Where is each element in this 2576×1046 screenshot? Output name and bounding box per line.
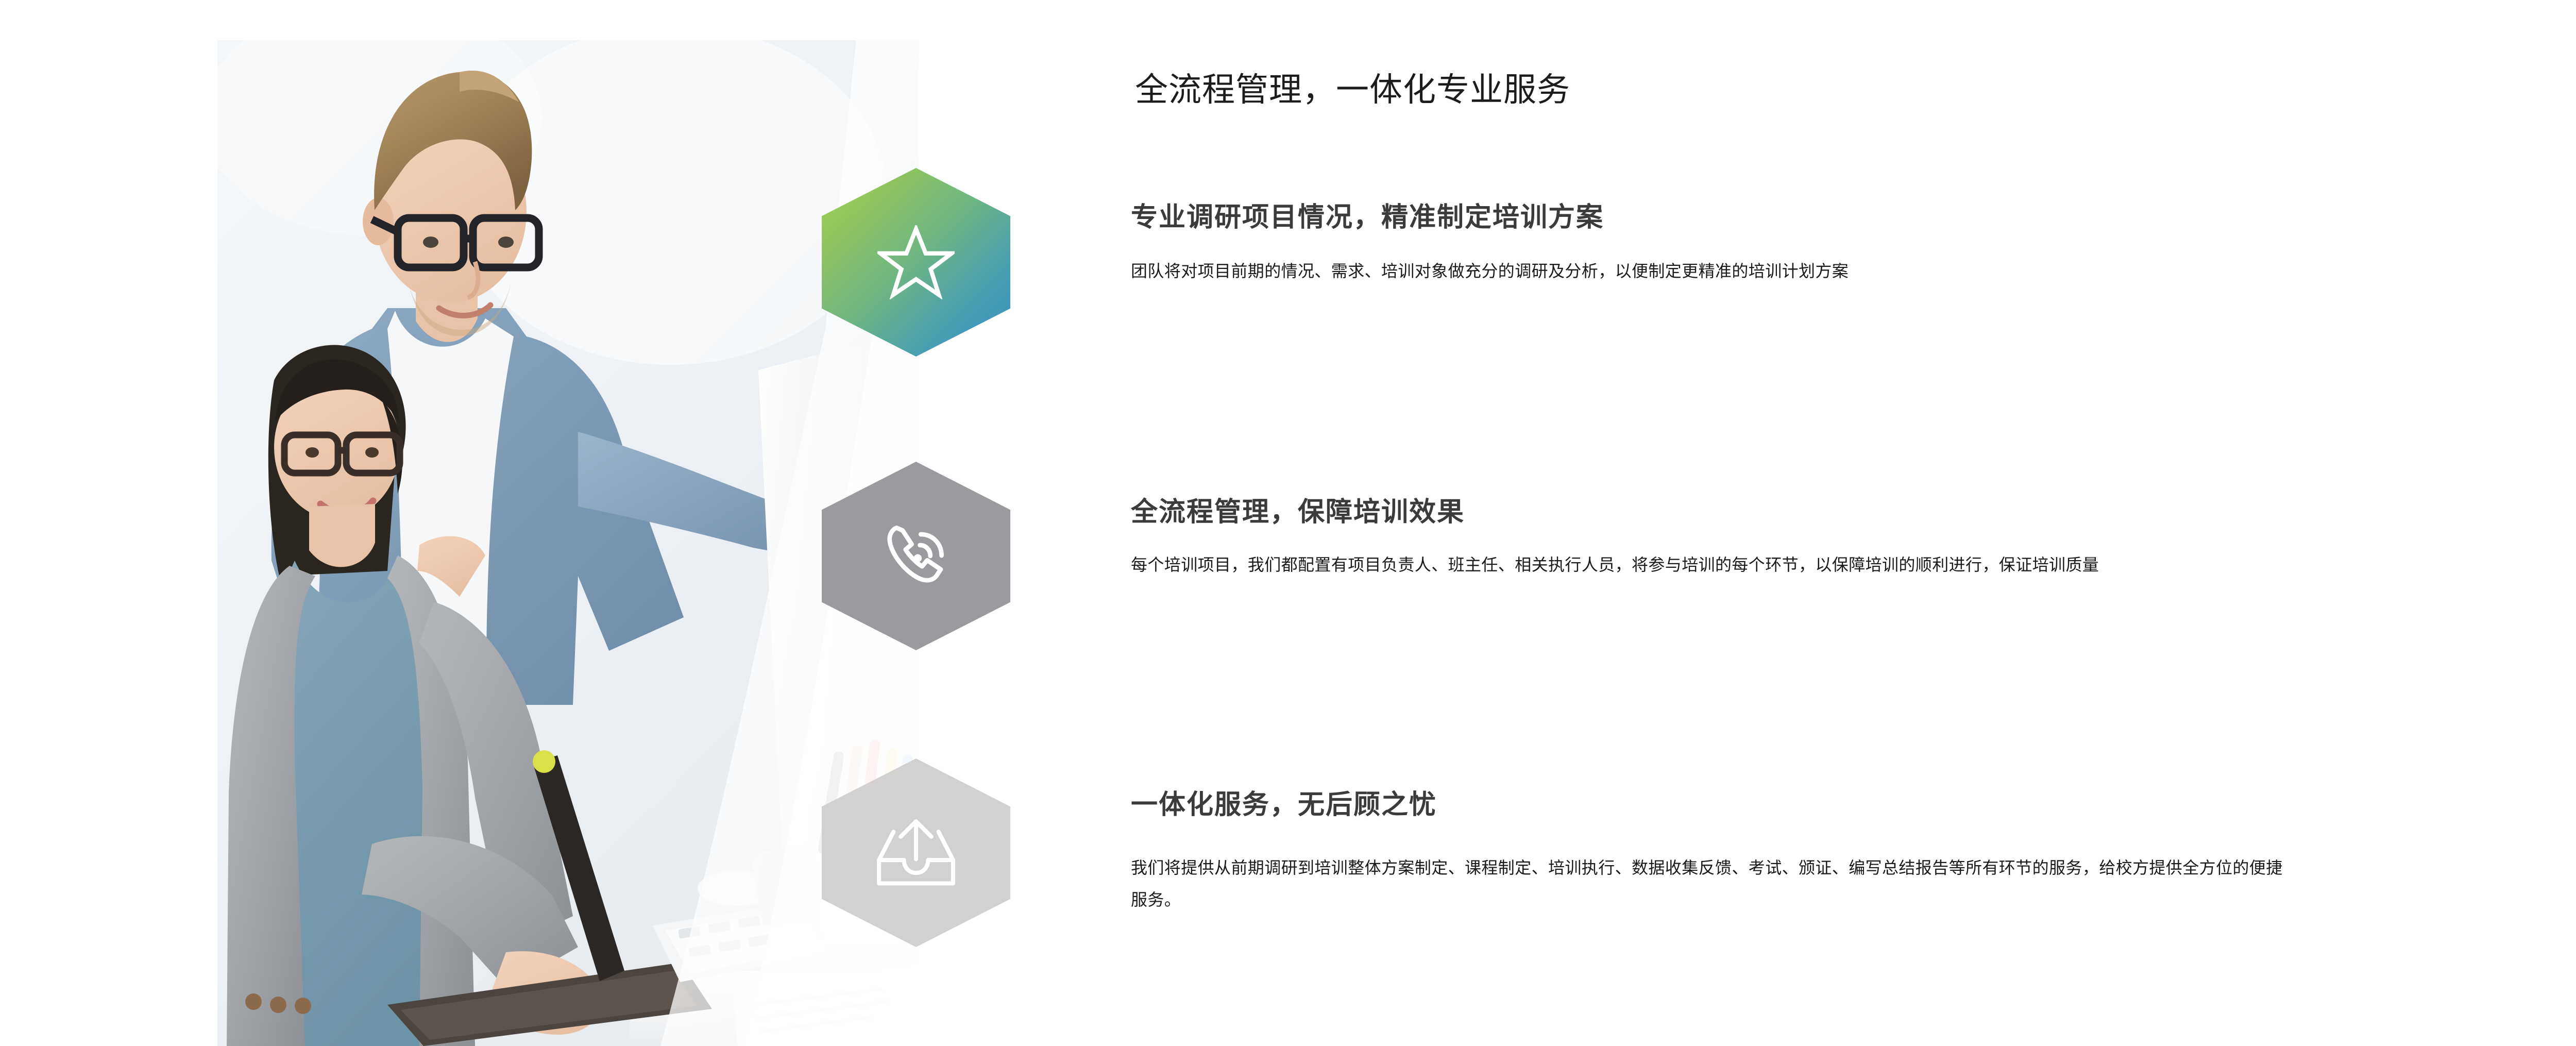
feature-block-1: 专业调研项目情况，精准制定培训方案 团队将对项目前期的情况、需求、培训对象做充分…	[1131, 201, 2316, 285]
feature-icon-hexagon-1	[822, 168, 1010, 357]
feature-heading-2: 全流程管理，保障培训效果	[1131, 496, 2316, 529]
feature-icon-hexagon-2	[822, 462, 1010, 650]
feature-icon-hexagon-3	[822, 758, 1010, 947]
upload-tray-icon	[822, 758, 1010, 947]
phone-call-icon	[822, 462, 1010, 650]
page-title: 全流程管理，一体化专业服务	[1135, 63, 1570, 111]
hero-photo	[217, 40, 919, 1046]
feature-body-1: 团队将对项目前期的情况、需求、培训对象做充分的调研及分析，以便制定更精准的培训计…	[1131, 258, 2285, 285]
feature-heading-1: 专业调研项目情况，精准制定培训方案	[1131, 201, 2316, 234]
content-column: 全流程管理，一体化专业服务 专业调研项目情况，精准制定培训方案 团队将对项目前期…	[1131, 0, 2367, 1046]
star-icon	[822, 168, 1010, 357]
feature-block-2: 全流程管理，保障培训效果 每个培训项目，我们都配置有项目负责人、班主任、相关执行…	[1131, 496, 2316, 579]
feature-block-3: 一体化服务，无后顾之忧 我们将提供从前期调研到培训整体方案制定、课程制定、培训执…	[1131, 788, 2316, 916]
feature-heading-3: 一体化服务，无后顾之忧	[1131, 788, 2316, 822]
feature-body-3: 我们将提供从前期调研到培训整体方案制定、课程制定、培训执行、数据收集反馈、考试、…	[1131, 852, 2285, 916]
feature-body-2: 每个培训项目，我们都配置有项目负责人、班主任、相关执行人员，将参与培训的每个环节…	[1131, 552, 2285, 579]
office-team-photo-illustration	[217, 40, 919, 1046]
